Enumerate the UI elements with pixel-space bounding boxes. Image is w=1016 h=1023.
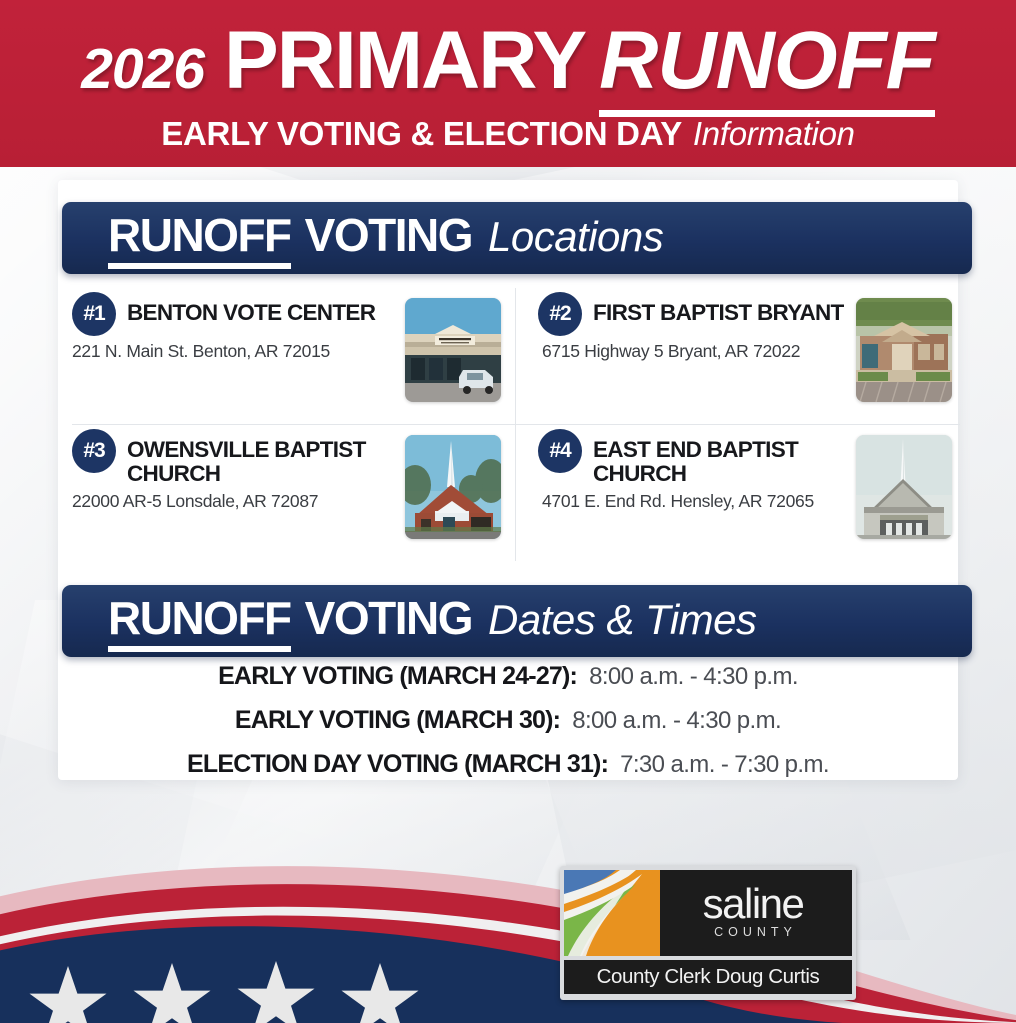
location-item-2[interactable]: #2 FIRST BAPTIST BRYANT 6715 Highway 5 B… bbox=[516, 288, 960, 424]
schedule-label: EARLY VOTING (MARCH 30): bbox=[235, 706, 560, 735]
location-number-badge: #4 bbox=[538, 429, 582, 473]
schedule-row: EARLY VOTING (MARCH 30): 8:00 a.m. - 4:3… bbox=[58, 706, 958, 735]
logo-clerk-name: County Clerk Doug Curtis bbox=[597, 965, 820, 989]
owensville-baptist-church-photo bbox=[405, 435, 501, 539]
schedule-time: 8:00 a.m. - 4:30 p.m. bbox=[589, 663, 798, 691]
saline-county-logo: saline COUNTY County Clerk Doug Curtis bbox=[560, 866, 856, 1000]
east-end-baptist-church-photo bbox=[856, 435, 952, 539]
location-address: 4701 E. End Rd. Hensley, AR 72065 bbox=[542, 491, 846, 513]
location-name: BENTON VOTE CENTER bbox=[127, 294, 375, 325]
benton-vote-center-photo bbox=[405, 298, 501, 402]
schedule-label: EARLY VOTING (MARCH 24-27): bbox=[218, 662, 577, 691]
saline-county-mark-icon bbox=[564, 870, 660, 956]
location-address: 221 N. Main St. Benton, AR 72015 bbox=[72, 341, 395, 363]
header-subtitle-bold: EARLY VOTING & ELECTION DAY bbox=[161, 115, 682, 153]
schedule-time: 8:00 a.m. - 4:30 p.m. bbox=[572, 707, 781, 735]
locations-banner-runoff: RUNOFF bbox=[108, 208, 291, 269]
schedule-time: 7:30 a.m. - 7:30 p.m. bbox=[620, 751, 829, 779]
header-year: 2026 bbox=[81, 36, 204, 102]
location-name: FIRST BAPTIST BRYANT bbox=[593, 294, 844, 325]
dates-banner-runoff: RUNOFF bbox=[108, 591, 291, 652]
location-name: OWENSVILLE BAPTIST CHURCH bbox=[127, 431, 395, 486]
location-item-4[interactable]: #4 EAST END BAPTIST CHURCH 4701 E. End R… bbox=[516, 425, 960, 561]
dates-banner-label: Dates & Times bbox=[488, 596, 757, 644]
header-title-line: 2026 PRIMARY RUNOFF bbox=[0, 14, 1016, 117]
header-subtitle-line: EARLY VOTING & ELECTION DAY Information bbox=[0, 115, 1016, 153]
schedule-list: EARLY VOTING (MARCH 24-27): 8:00 a.m. - … bbox=[58, 662, 958, 794]
location-address: 6715 Highway 5 Bryant, AR 72022 bbox=[542, 341, 846, 363]
locations-grid: #1 BENTON VOTE CENTER 221 N. Main St. Be… bbox=[72, 288, 960, 560]
locations-banner: RUNOFF VOTING Locations bbox=[62, 202, 972, 274]
locations-banner-voting: VOTING bbox=[305, 208, 472, 262]
page-header: 2026 PRIMARY RUNOFF EARLY VOTING & ELECT… bbox=[0, 0, 1016, 167]
first-baptist-bryant-photo bbox=[856, 298, 952, 402]
locations-row: #3 OWENSVILLE BAPTIST CHURCH 22000 AR-5 … bbox=[72, 425, 960, 561]
location-item-3[interactable]: #3 OWENSVILLE BAPTIST CHURCH 22000 AR-5 … bbox=[72, 425, 516, 561]
locations-row: #1 BENTON VOTE CENTER 221 N. Main St. Be… bbox=[72, 288, 960, 425]
logo-name: saline bbox=[703, 885, 804, 924]
schedule-row: EARLY VOTING (MARCH 24-27): 8:00 a.m. - … bbox=[58, 662, 958, 691]
header-subtitle-italic: Information bbox=[693, 115, 855, 153]
header-runoff: RUNOFF bbox=[599, 14, 935, 117]
footer-flag-decoration bbox=[0, 823, 1016, 1023]
dates-banner: RUNOFF VOTING Dates & Times bbox=[62, 585, 972, 657]
location-number-badge: #2 bbox=[538, 292, 582, 336]
dates-banner-voting: VOTING bbox=[305, 591, 472, 645]
schedule-label: ELECTION DAY VOTING (MARCH 31): bbox=[187, 750, 608, 779]
location-address: 22000 AR-5 Lonsdale, AR 72087 bbox=[72, 491, 395, 513]
logo-subtext: COUNTY bbox=[714, 925, 797, 939]
location-number-badge: #3 bbox=[72, 429, 116, 473]
header-primary: PRIMARY bbox=[224, 14, 585, 108]
locations-banner-label: Locations bbox=[488, 213, 663, 261]
schedule-row: ELECTION DAY VOTING (MARCH 31): 7:30 a.m… bbox=[58, 750, 958, 779]
location-number-badge: #1 bbox=[72, 292, 116, 336]
location-item-1[interactable]: #1 BENTON VOTE CENTER 221 N. Main St. Be… bbox=[72, 288, 516, 424]
location-name: EAST END BAPTIST CHURCH bbox=[593, 431, 846, 486]
